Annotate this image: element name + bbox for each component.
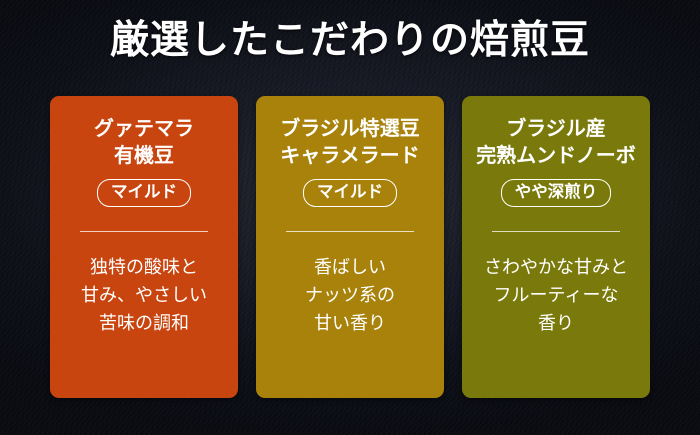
card-description: さわやかな甘みと フルーティーな 香り: [484, 254, 628, 338]
page-title: 厳選したこだわりの焙煎豆: [0, 18, 700, 65]
card-divider: [492, 231, 620, 233]
promo-banner: 厳選したこだわりの焙煎豆 グァテマラ 有機豆 マイルド 独特の酸味と 甘み、やさ…: [0, 0, 700, 435]
coffee-bean-card-guatemala: グァテマラ 有機豆 マイルド 独特の酸味と 甘み、やさしい 苦味の調和: [50, 96, 238, 398]
coffee-bean-card-brazil-caramelado: ブラジル特選豆 キャラメラード マイルド 香ばしい ナッツ系の 甘い香り: [256, 96, 444, 398]
card-title: ブラジル産 完熟ムンドノーボ: [476, 116, 636, 169]
roast-level-badge: マイルド: [303, 179, 397, 207]
card-description: 香ばしい ナッツ系の 甘い香り: [305, 254, 395, 338]
coffee-bean-card-list: グァテマラ 有機豆 マイルド 独特の酸味と 甘み、やさしい 苦味の調和 ブラジル…: [50, 96, 650, 398]
card-divider: [80, 231, 208, 233]
card-title: ブラジル特選豆 キャラメラード: [280, 116, 420, 169]
card-divider: [286, 231, 414, 233]
roast-level-badge: やや深煎り: [501, 179, 612, 207]
roast-level-badge: マイルド: [97, 179, 191, 207]
card-description: 独特の酸味と 甘み、やさしい 苦味の調和: [81, 254, 207, 338]
coffee-bean-card-brazil-mundo-novo: ブラジル産 完熟ムンドノーボ やや深煎り さわやかな甘みと フルーティーな 香り: [462, 96, 650, 398]
card-title: グァテマラ 有機豆: [94, 116, 194, 169]
